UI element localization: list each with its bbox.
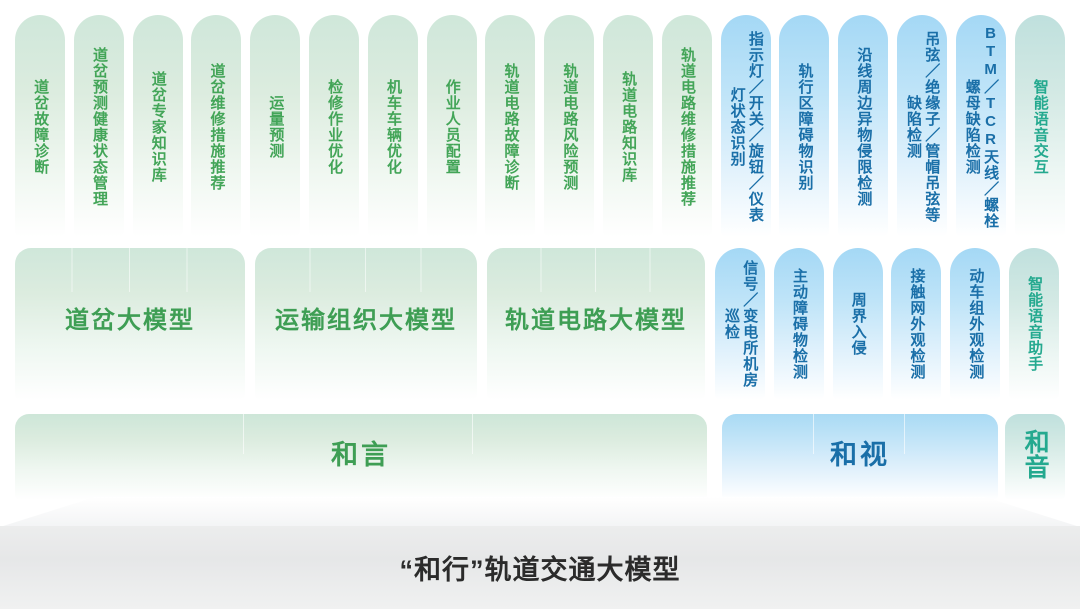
domain-model-label: 运输组织大模型 — [275, 300, 457, 335]
vision-module-pill[interactable]: 智能语音助手 — [1009, 248, 1059, 400]
vision-module-pill[interactable]: 动车组外观检测 — [950, 248, 1000, 400]
application-label: 轨道电路故障诊断 — [485, 15, 535, 237]
vision-module-pill[interactable]: 主动障碍物检测 — [774, 248, 824, 400]
application-pill[interactable]: 运量预测 — [250, 15, 300, 237]
vision-module-label: 周界入侵 — [833, 248, 883, 400]
application-label: 轨道电路知识库 — [603, 15, 653, 237]
foundation-model-label: 和视 — [830, 433, 890, 472]
vision-module-pill[interactable]: 接触网外观检测 — [891, 248, 941, 400]
application-label: 运量预测 — [250, 15, 300, 237]
application-pill[interactable]: 轨道电路知识库 — [603, 15, 653, 237]
panel-seam — [904, 414, 905, 454]
application-pill[interactable]: 道岔专家知识库 — [133, 15, 183, 237]
domain-model-label: 轨道电路大模型 — [505, 300, 687, 335]
application-pill[interactable]: 指示灯／开关／旋钮／仪表灯状态识别 — [721, 15, 771, 237]
application-pill[interactable]: 道岔预测健康状态管理 — [74, 15, 124, 237]
application-label: 道岔预测健康状态管理 — [74, 15, 124, 237]
application-label: 轨道电路维修措施推荐 — [662, 15, 712, 237]
application-label: 轨道电路风险预测 — [544, 15, 594, 237]
application-pill[interactable]: 轨道电路风险预测 — [544, 15, 594, 237]
vision-module-pill[interactable]: 周界入侵 — [833, 248, 883, 400]
application-label: 作业人员配置 — [427, 15, 477, 237]
application-pill[interactable]: 道岔故障诊断 — [15, 15, 65, 237]
application-label: 指示灯／开关／旋钮／仪表灯状态识别 — [721, 15, 771, 237]
application-pill[interactable]: 道岔维修措施推荐 — [191, 15, 241, 237]
application-label: 吊弦／绝缘子／管帽吊弦等缺陷检测 — [897, 15, 947, 237]
foundation-model-box[interactable]: 和视 — [722, 414, 998, 500]
application-pill[interactable]: 沿线周边异物侵限检测 — [838, 15, 888, 237]
application-pill[interactable]: 轨道电路故障诊断 — [485, 15, 535, 237]
panel-seam — [472, 414, 473, 454]
domain-model-box[interactable]: 道岔大模型 — [15, 248, 245, 400]
vision-module-label: 动车组外观检测 — [950, 248, 1000, 400]
foundation-model-label: 和言 — [331, 433, 391, 472]
application-label: 沿线周边异物侵限检测 — [838, 15, 888, 237]
application-label: 智能语音交互 — [1015, 15, 1065, 237]
vision-module-label: 智能语音助手 — [1009, 248, 1059, 400]
application-pill[interactable]: 轨行区障碍物识别 — [779, 15, 829, 237]
vision-module-label: 接触网外观检测 — [891, 248, 941, 400]
application-label: 道岔专家知识库 — [133, 15, 183, 237]
application-pill[interactable]: 检修作业优化 — [309, 15, 359, 237]
application-pill[interactable]: 吊弦／绝缘子／管帽吊弦等缺陷检测 — [897, 15, 947, 237]
diagram-canvas: 道岔故障诊断道岔预测健康状态管理道岔专家知识库道岔维修措施推荐运量预测检修作业优… — [0, 0, 1080, 609]
application-pill[interactable]: BTM／TCR天线／螺栓螺母缺陷检测 — [956, 15, 1006, 237]
platform-title: “和行”轨道交通大模型 — [0, 526, 1080, 609]
foundation-model-box[interactable]: 和言 — [15, 414, 707, 500]
vision-module-label: 信号／变电所机房巡检 — [715, 248, 765, 400]
vision-module-label: 主动障碍物检测 — [774, 248, 824, 400]
domain-model-box[interactable]: 运输组织大模型 — [255, 248, 477, 400]
application-pill[interactable]: 轨道电路维修措施推荐 — [662, 15, 712, 237]
application-pill[interactable]: 作业人员配置 — [427, 15, 477, 237]
platform-top-surface — [0, 497, 1080, 527]
application-label: BTM／TCR天线／螺栓螺母缺陷检测 — [956, 15, 1006, 237]
application-label: 道岔故障诊断 — [15, 15, 65, 237]
panel-seam — [243, 414, 244, 454]
vision-module-pill[interactable]: 信号／变电所机房巡检 — [715, 248, 765, 400]
application-pill[interactable]: 机车车辆优化 — [368, 15, 418, 237]
panel-seam — [813, 414, 814, 454]
application-label: 轨行区障碍物识别 — [779, 15, 829, 237]
domain-model-label: 道岔大模型 — [65, 300, 195, 335]
foundation-model-box[interactable]: 和音 — [1005, 414, 1065, 500]
application-pill[interactable]: 智能语音交互 — [1015, 15, 1065, 237]
foundation-model-label: 和音 — [1022, 429, 1048, 479]
application-label: 检修作业优化 — [309, 15, 359, 237]
domain-model-box[interactable]: 轨道电路大模型 — [487, 248, 705, 400]
application-label: 机车车辆优化 — [368, 15, 418, 237]
application-label: 道岔维修措施推荐 — [191, 15, 241, 237]
